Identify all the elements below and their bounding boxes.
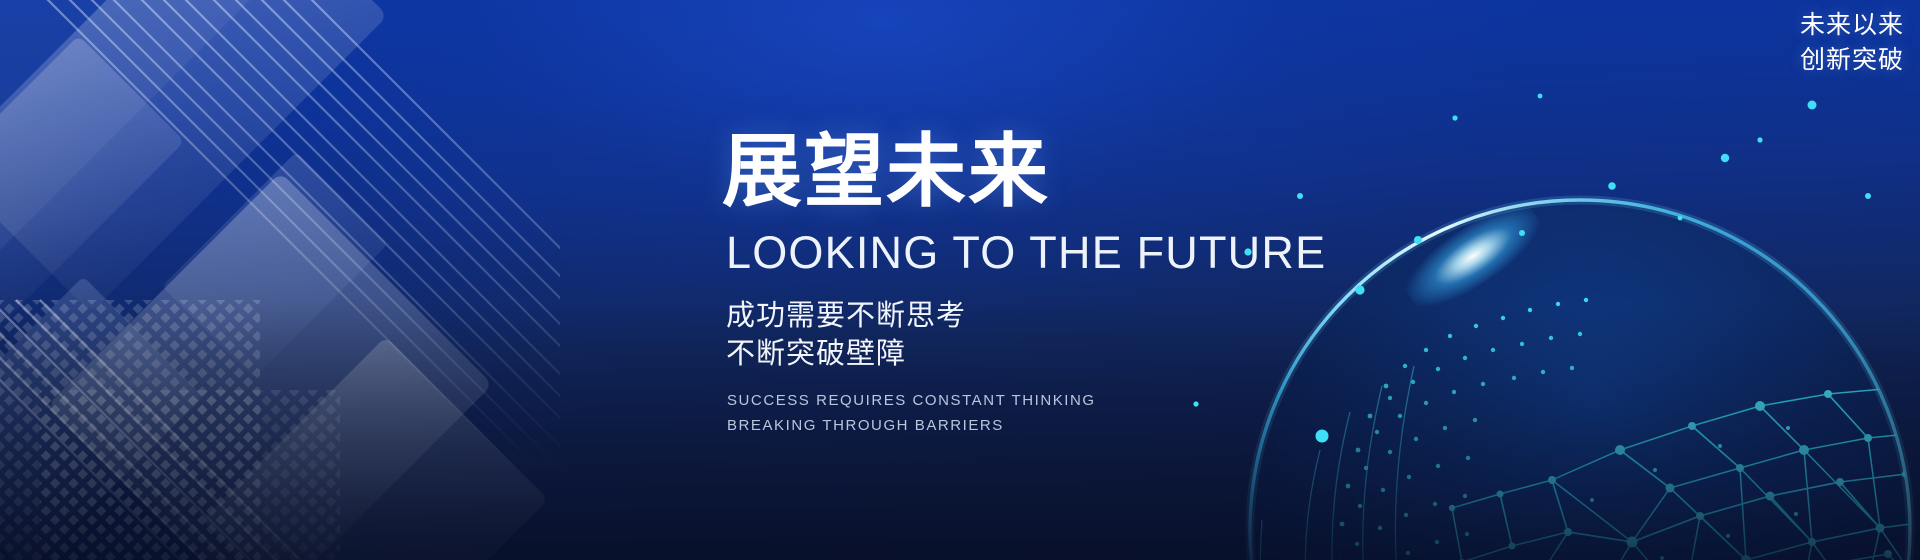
hero-banner: 展望未来 LOOKING TO THE FUTURE 成功需要不断思考 不断突破…	[0, 0, 1920, 560]
subtitle-en-line-2: BREAKING THROUGH BARRIERS	[727, 413, 1482, 439]
subtitle-cn-line-1: 成功需要不断思考	[726, 297, 1482, 335]
subtitle-en: SUCCESS REQUIRES CONSTANT THINKING BREAK…	[727, 388, 1482, 440]
corner-slogan: 未来以来 创新突破	[1800, 8, 1904, 77]
page-title-cn: 展望未来	[722, 132, 1482, 212]
decor-shapes-svg	[0, 0, 560, 560]
decor-left-geometry	[0, 0, 560, 560]
page-title-en: LOOKING TO THE FUTURE	[726, 230, 1482, 275]
subtitle-cn-line-2: 不断突破壁障	[726, 335, 1482, 373]
corner-slogan-line-2: 创新突破	[1800, 43, 1904, 78]
corner-slogan-line-1: 未来以来	[1800, 8, 1904, 43]
headline-block: 展望未来 LOOKING TO THE FUTURE 成功需要不断思考 不断突破…	[722, 132, 1482, 439]
subtitle-cn: 成功需要不断思考 不断突破壁障	[726, 297, 1482, 374]
subtitle-en-line-1: SUCCESS REQUIRES CONSTANT THINKING	[727, 388, 1482, 414]
